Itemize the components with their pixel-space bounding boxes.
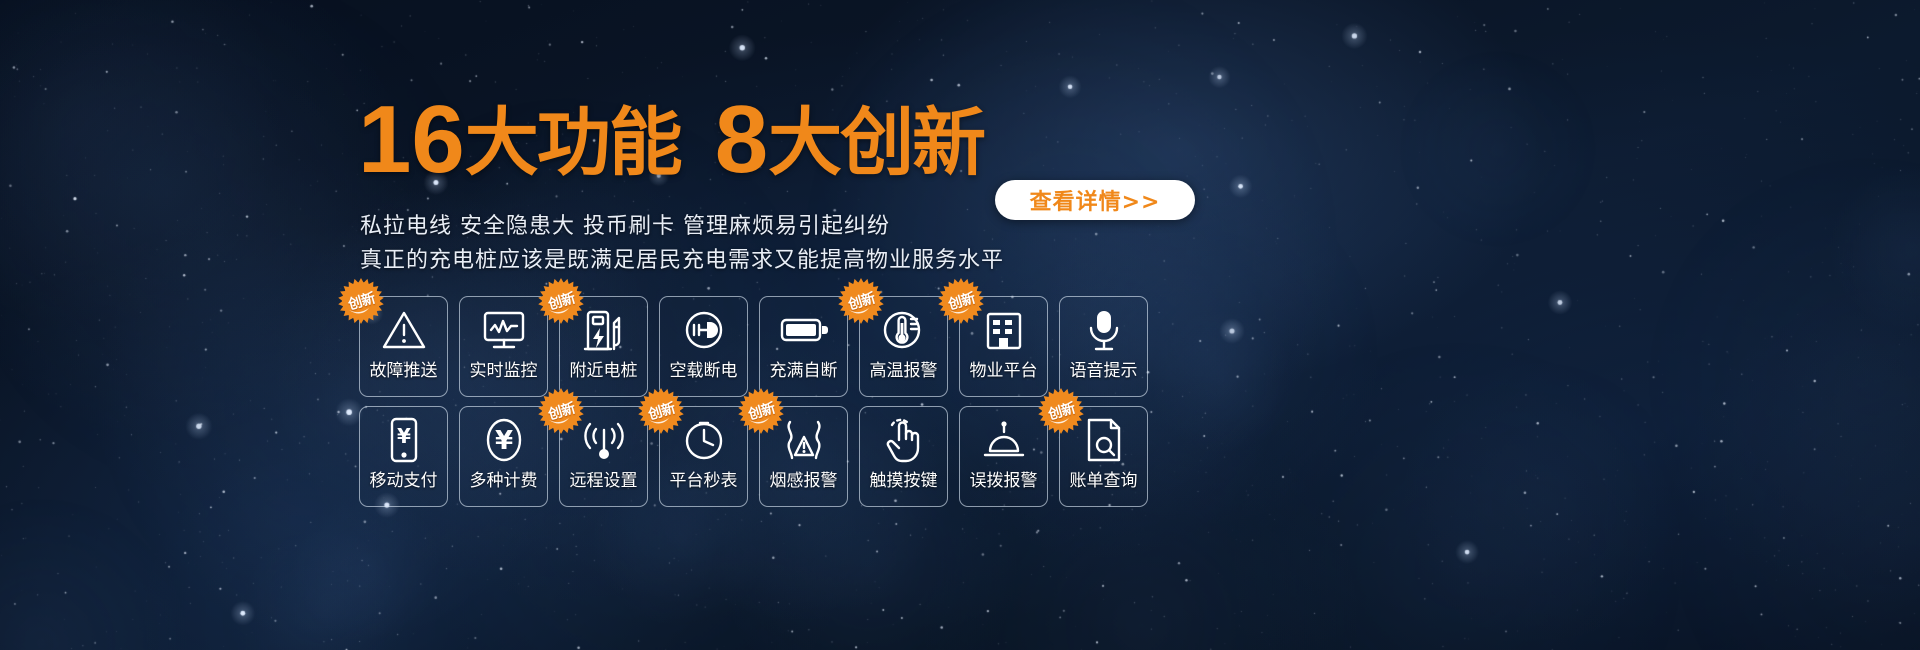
feature-card-label: 高温报警 — [870, 363, 938, 380]
feature-card-label: 充满自断 — [770, 363, 838, 380]
alarm-bell-icon — [981, 407, 1027, 473]
feature-card-账单查询[interactable]: 创新账单查询 — [1059, 406, 1148, 507]
warning-triangle-icon — [381, 297, 427, 363]
feature-card-附近电桩[interactable]: 创新附近电桩 — [559, 296, 648, 397]
smoke-alarm-icon — [780, 407, 828, 473]
feature-card-label: 多种计费 — [470, 473, 538, 490]
touch-hand-icon — [880, 407, 928, 473]
promo-banner: 16大功能8大创新 私拉电线 安全隐患大 投币刷卡 管理麻烦易引起纠纷 真正的充… — [0, 0, 1920, 650]
subtitle-line-1: 私拉电线 安全隐患大 投币刷卡 管理麻烦易引起纠纷 — [360, 208, 890, 240]
view-details-button[interactable]: 查看详情>> — [995, 180, 1195, 220]
feature-card-烟感报警[interactable]: 创新烟感报警 — [759, 406, 848, 507]
feature-card-移动支付[interactable]: ¥移动支付 — [359, 406, 448, 507]
innovation-badge: 创新 — [337, 277, 385, 325]
feature-card-高温报警[interactable]: 创新高温报警 — [859, 296, 948, 397]
mobile-payment-icon: ¥ — [386, 407, 422, 473]
feature-card-label: 空载断电 — [670, 363, 738, 380]
feature-card-故障推送[interactable]: 创新故障推送 — [359, 296, 448, 397]
feature-card-label: 烟感报警 — [770, 473, 838, 490]
plug-circle-icon — [680, 297, 728, 363]
feature-card-label: 触摸按键 — [870, 473, 938, 490]
page-title: 16大功能8大创新 — [358, 92, 984, 188]
subtitle-line-2: 真正的充电桩应该是既满足居民充电需求又能提高物业服务水平 — [360, 242, 1004, 274]
feature-card-label: 平台秒表 — [670, 473, 738, 490]
innovation-badge: 创新 — [537, 277, 585, 325]
charging-station-icon — [581, 297, 627, 363]
feature-card-物业平台[interactable]: 创新物业平台 — [959, 296, 1048, 397]
innovation-badge: 创新 — [937, 277, 985, 325]
feature-card-空载断电[interactable]: 空载断电 — [659, 296, 748, 397]
headline-text-innovations: 大创新 — [768, 100, 984, 186]
microphone-icon — [1084, 297, 1124, 363]
feature-card-label: 误拨报警 — [970, 473, 1038, 490]
yuan-coin-icon: ¥ — [482, 407, 526, 473]
feature-card-label: 实时监控 — [470, 363, 538, 380]
battery-full-icon — [779, 297, 829, 363]
feature-card-实时监控[interactable]: 实时监控 — [459, 296, 548, 397]
feature-card-label: 物业平台 — [970, 363, 1038, 380]
thermometer-icon — [881, 297, 927, 363]
feature-card-语音提示[interactable]: 语音提示 — [1059, 296, 1148, 397]
headline-number-innovations: 8 — [715, 86, 768, 193]
feature-card-平台秒表[interactable]: 创新平台秒表 — [659, 406, 748, 507]
feature-card-label: 附近电桩 — [570, 363, 638, 380]
innovation-badge: 创新 — [1037, 387, 1085, 435]
feature-card-label: 故障推送 — [370, 363, 438, 380]
feature-card-label: 移动支付 — [370, 473, 438, 490]
feature-card-label: 账单查询 — [1070, 473, 1138, 490]
headline-number-functions: 16 — [358, 86, 465, 193]
innovation-badge: 创新 — [637, 387, 685, 435]
wireless-signal-icon — [579, 407, 629, 473]
feature-row-2: ¥移动支付¥多种计费创新远程设置创新平台秒表创新烟感报警触摸按键误拨报警创新账单… — [359, 406, 1148, 507]
feature-card-充满自断[interactable]: 充满自断 — [759, 296, 848, 397]
monitor-waveform-icon — [480, 297, 528, 363]
building-icon — [982, 297, 1026, 363]
svg-text:¥: ¥ — [494, 426, 512, 456]
feature-grid: 创新故障推送实时监控创新附近电桩空载断电充满自断创新高温报警创新物业平台语音提示… — [359, 296, 1148, 516]
bill-search-icon — [1083, 407, 1125, 473]
svg-text:¥: ¥ — [397, 424, 411, 448]
feature-card-label: 语音提示 — [1070, 363, 1138, 380]
feature-row-1: 创新故障推送实时监控创新附近电桩空载断电充满自断创新高温报警创新物业平台语音提示 — [359, 296, 1148, 397]
innovation-badge: 创新 — [737, 387, 785, 435]
clock-icon — [682, 407, 726, 473]
innovation-badge: 创新 — [537, 387, 585, 435]
feature-card-触摸按键[interactable]: 触摸按键 — [859, 406, 948, 507]
headline-text-functions: 大功能 — [465, 100, 681, 186]
feature-card-label: 远程设置 — [570, 473, 638, 490]
feature-card-远程设置[interactable]: 创新远程设置 — [559, 406, 648, 507]
feature-card-误拨报警[interactable]: 误拨报警 — [959, 406, 1048, 507]
feature-card-多种计费[interactable]: ¥多种计费 — [459, 406, 548, 507]
innovation-badge: 创新 — [837, 277, 885, 325]
